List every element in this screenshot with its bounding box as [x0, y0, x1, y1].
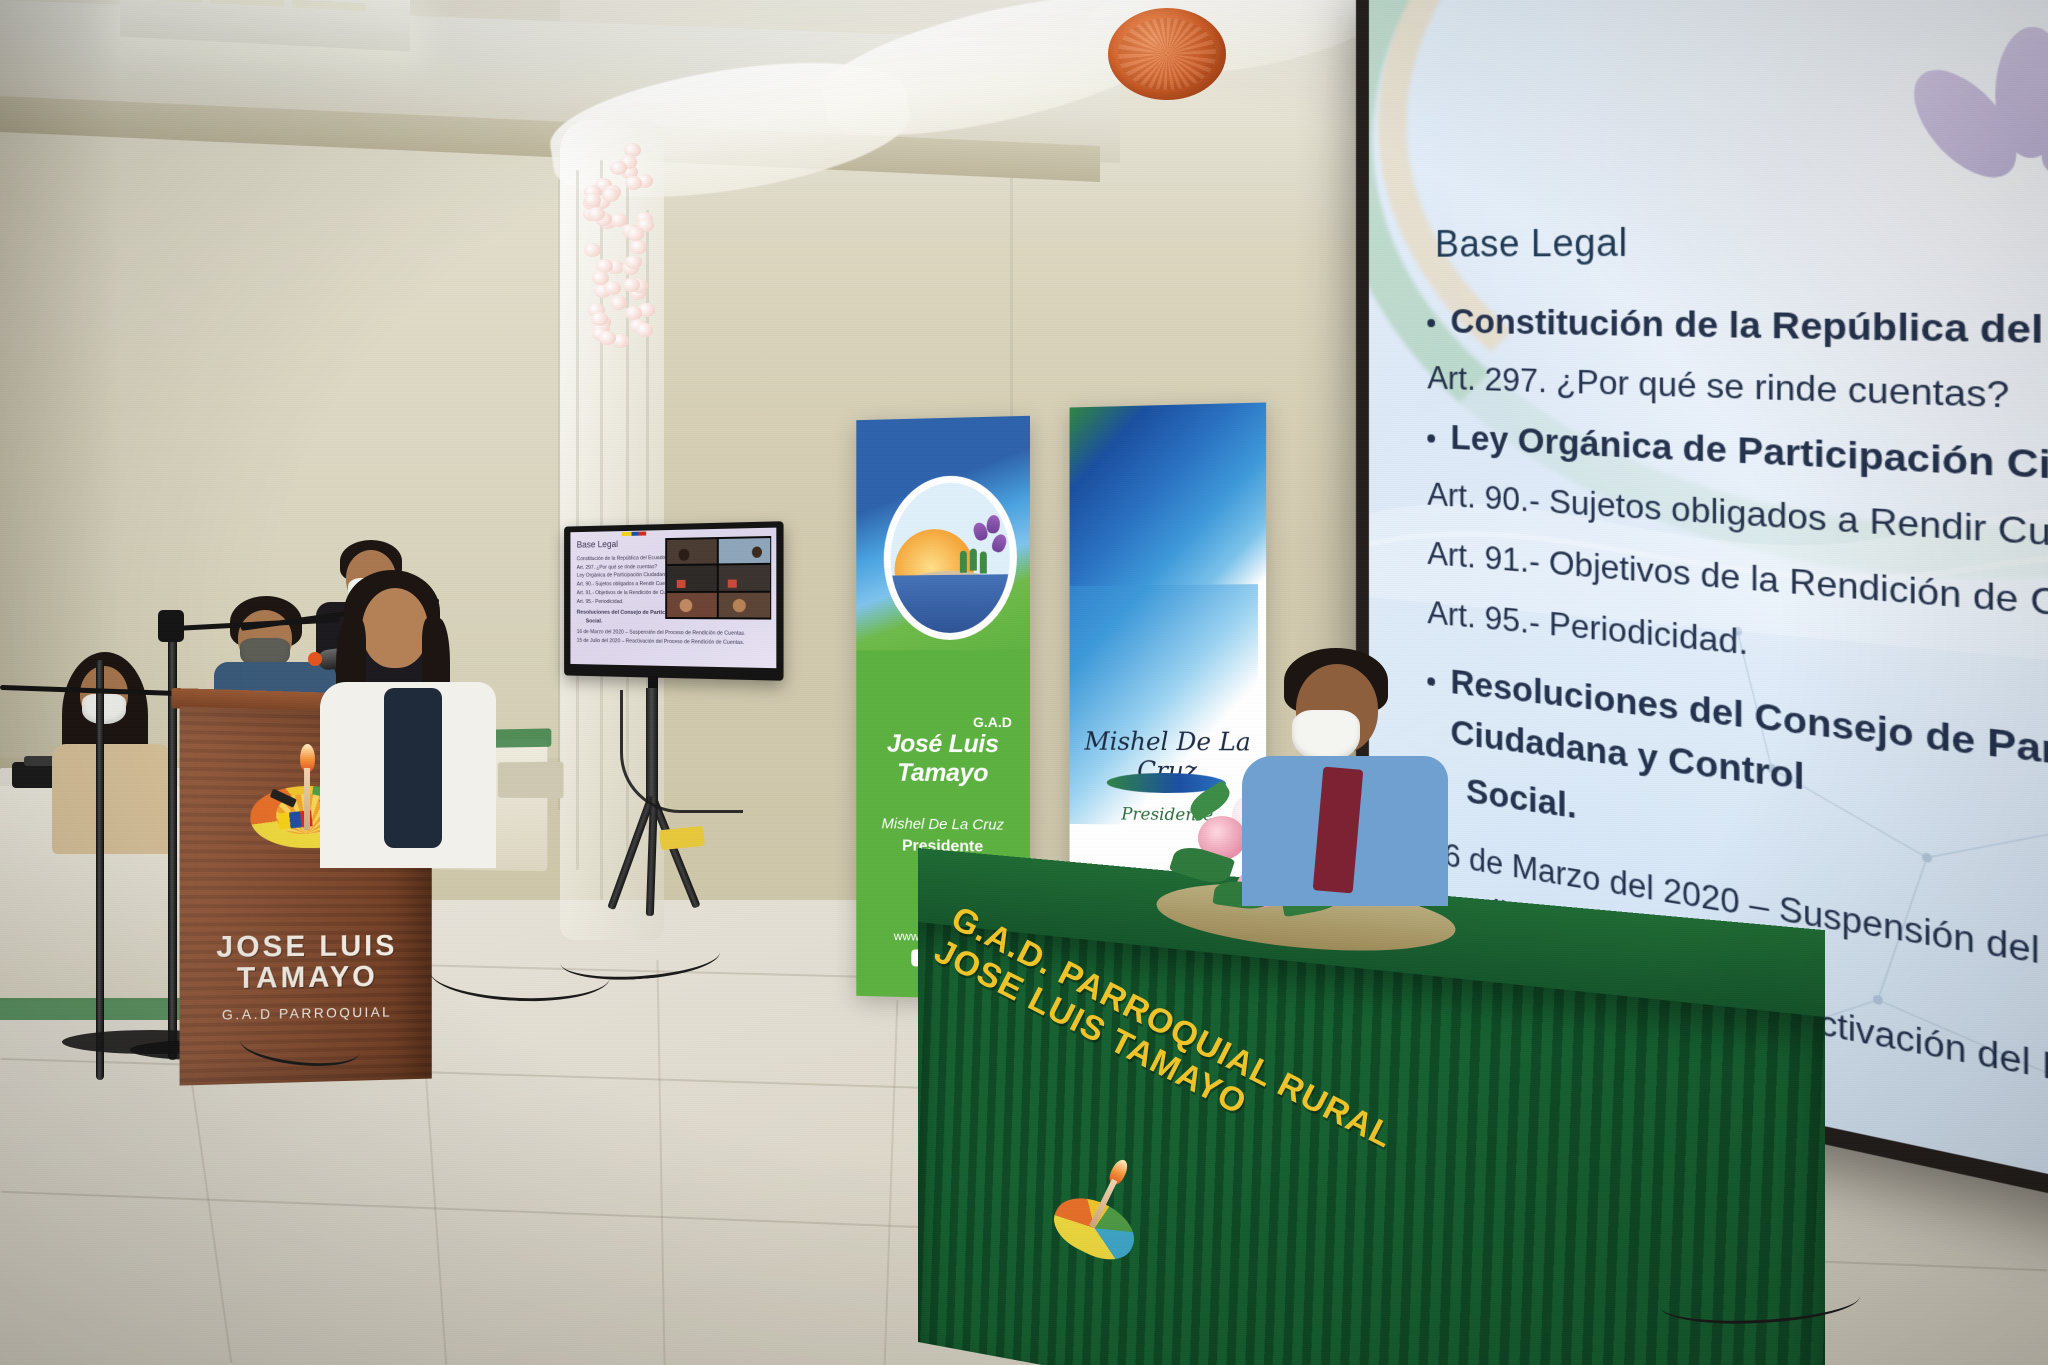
garland-petal [588, 207, 605, 221]
podium-name-line1: JOSE LUIS [180, 931, 432, 964]
garland-petal [625, 306, 642, 320]
garland-petal [584, 243, 601, 257]
person-seated-man-head-table [1258, 648, 1428, 898]
speaker-inner-top [384, 688, 442, 848]
microphone-clamp [158, 610, 184, 642]
person-seated-woman-left [58, 652, 162, 822]
tv-slide-date: 16 de Marzo del 2020 – Suspensión del Pr… [577, 629, 769, 638]
tv-slide-bold-line: Social. [586, 619, 769, 627]
tv-power-cable [620, 690, 743, 813]
videocall-participant-grid [665, 536, 771, 620]
chair-back [498, 762, 564, 799]
podium-nameplate: JOSE LUIS TAMAYO G.A.D PARROQUIAL [180, 931, 432, 1023]
tv-monitor[interactable]: Base Legal Constitución de la República … [564, 521, 783, 681]
slide-flower-graphic [1890, 18, 2048, 327]
emblem-torch [298, 744, 316, 830]
microphone-stand[interactable] [168, 620, 177, 1060]
garland-petal [591, 312, 608, 326]
bullet-dot [1427, 319, 1435, 327]
garland-petal [627, 227, 644, 241]
garland-petal [625, 255, 642, 269]
videocall-participant [718, 538, 769, 564]
column-flower-garland [576, 140, 654, 340]
garland-petal [604, 281, 621, 295]
slide-title: Base Legal [1435, 220, 1628, 265]
garland-petal [602, 188, 619, 202]
garland-petal [636, 323, 653, 337]
side-table-green-trim [0, 998, 190, 1020]
microphone-stand[interactable] [96, 660, 104, 1080]
tv-slide-date: 15 de Julio del 2020 – Reactivación del … [577, 638, 769, 647]
conference-room-photo: Base Legal Constitución de la República … [0, 0, 2048, 1365]
banner-president-name: Mishel De La Cruz [856, 815, 1030, 834]
podium-name-line2: TAMAYO [180, 961, 432, 995]
garland-petal [584, 193, 601, 207]
emblem-shaft [304, 768, 310, 830]
banner-gad-label: G.A.D [973, 714, 1012, 730]
videocall-participant [667, 593, 717, 618]
bullet-dot [1427, 435, 1435, 444]
garland-petal [630, 240, 647, 254]
orange-pompom-decoration [1108, 8, 1226, 100]
videocall-participant [718, 565, 769, 591]
garland-petal [625, 176, 642, 190]
garland-petal [610, 296, 627, 310]
garland-petal [610, 161, 627, 175]
videocall-participant [667, 539, 717, 565]
logo-water [885, 574, 1014, 633]
microphone-windscreen [308, 652, 322, 666]
banner-org-name: José Luis Tamayo [856, 730, 1030, 789]
videocall-participant [667, 566, 717, 591]
garland-petal [592, 271, 609, 285]
person-speaker [330, 570, 490, 870]
videocall-participant [718, 593, 769, 618]
tv-screen: Base Legal Constitución de la República … [570, 528, 776, 669]
bullet-dot [1427, 677, 1435, 686]
gad-logo [884, 474, 1017, 640]
